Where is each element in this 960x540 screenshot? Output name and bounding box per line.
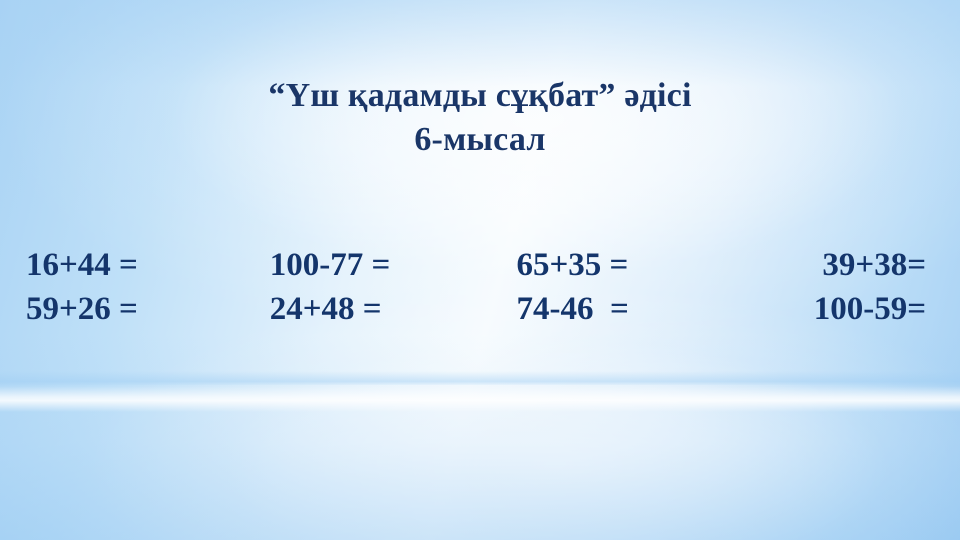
expression-row: 59+26 = 24+48 = 74-46 = 100-59=: [0, 287, 960, 331]
slide-content: “Үш қадамды сұқбат” әдісі 6-мысал 16+44 …: [0, 0, 960, 540]
expressions-grid: 16+44 = 100-77 = 65+35 = 39+38= 59+26 = …: [0, 243, 960, 331]
expression-item: 65+35 =: [502, 243, 709, 287]
expression-item: 39+38=: [710, 243, 960, 287]
slide-title: “Үш қадамды сұқбат” әдісі 6-мысал: [60, 74, 900, 162]
expression-item: 24+48 =: [250, 287, 503, 331]
expression-item: 74-46 =: [502, 287, 709, 331]
expression-row: 16+44 = 100-77 = 65+35 = 39+38=: [0, 243, 960, 287]
expression-item: 59+26 =: [0, 287, 250, 331]
title-line-method: “Үш қадамды сұқбат” әдісі: [60, 74, 900, 118]
slide-canvas: “Үш қадамды сұқбат” әдісі 6-мысал 16+44 …: [0, 0, 960, 540]
expression-item: 100-59=: [710, 287, 960, 331]
expression-item: 100-77 =: [250, 243, 503, 287]
expression-item: 16+44 =: [0, 243, 250, 287]
title-line-example-number: 6-мысал: [60, 118, 900, 162]
